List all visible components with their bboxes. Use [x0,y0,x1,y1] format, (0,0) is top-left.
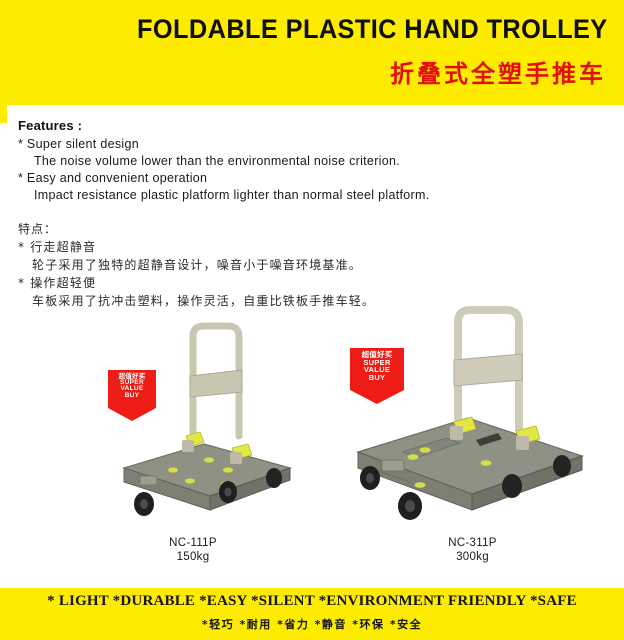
product-capacity: 150kg [78,550,308,564]
trolley-image-large [340,300,605,515]
features-heading-chinese: 特点： [18,221,538,238]
footer-tagline-english: * LIGHT *DURABLE *EASY *SILENT *ENVIRONM… [0,593,624,610]
header-banner: FOLDABLE PLASTIC HAND TROLLEY 折叠式全塑手推车 [0,0,624,105]
feature-detail-2: Impact resistance plastic platform light… [18,187,538,204]
product-flyer-page: FOLDABLE PLASTIC HAND TROLLEY 折叠式全塑手推车 F… [0,0,624,640]
feature-item-2: * Easy and convenient operation [18,170,538,187]
trolley-image-small [78,318,308,533]
product-capacity: 300kg [340,550,605,564]
badge-line-3: BUY [108,393,156,400]
features-section: Features : * Super silent design The noi… [18,118,538,204]
feature-item-1: * Super silent design [18,136,538,153]
footer-banner: * LIGHT *DURABLE *EASY *SILENT *ENVIRONM… [0,588,624,640]
super-value-badge: 超值好买 SUPER VALUE BUY [350,348,404,390]
badge-line-3: BUY [350,374,404,382]
page-title-chinese: 折叠式全塑手推车 [390,54,606,89]
product-model: NC-311P [340,536,605,550]
product-nc-311p: 超值好买 SUPER VALUE BUY NC-311P 300kg [340,300,605,568]
feature-detail-1: The noise volume lower than the environm… [18,153,538,170]
feature-item-chinese-1: * 行走超静音 [18,238,538,256]
product-nc-111p: 超值好买 SUPER VALUE BUY NC-111P 150kg [78,318,308,568]
feature-item-chinese-2: * 操作超轻便 [18,274,538,292]
page-title: FOLDABLE PLASTIC HAND TROLLEY [137,14,608,45]
super-value-badge: 超值好买 SUPER VALUE BUY [108,370,156,408]
product-model: NC-111P [78,536,308,550]
feature-detail-chinese-1: 轮子采用了独特的超静音设计，噪音小于噪音环境基准。 [18,256,538,274]
footer-tagline-chinese: *轻巧 *耐用 *省力 *静音 *环保 *安全 [0,616,624,632]
features-heading: Features : [18,118,538,133]
left-edge-accent [0,105,7,123]
product-caption: NC-311P 300kg [340,536,605,564]
product-caption: NC-111P 150kg [78,536,308,564]
features-section-chinese: 特点： * 行走超静音 轮子采用了独特的超静音设计，噪音小于噪音环境基准。 * … [18,221,538,310]
